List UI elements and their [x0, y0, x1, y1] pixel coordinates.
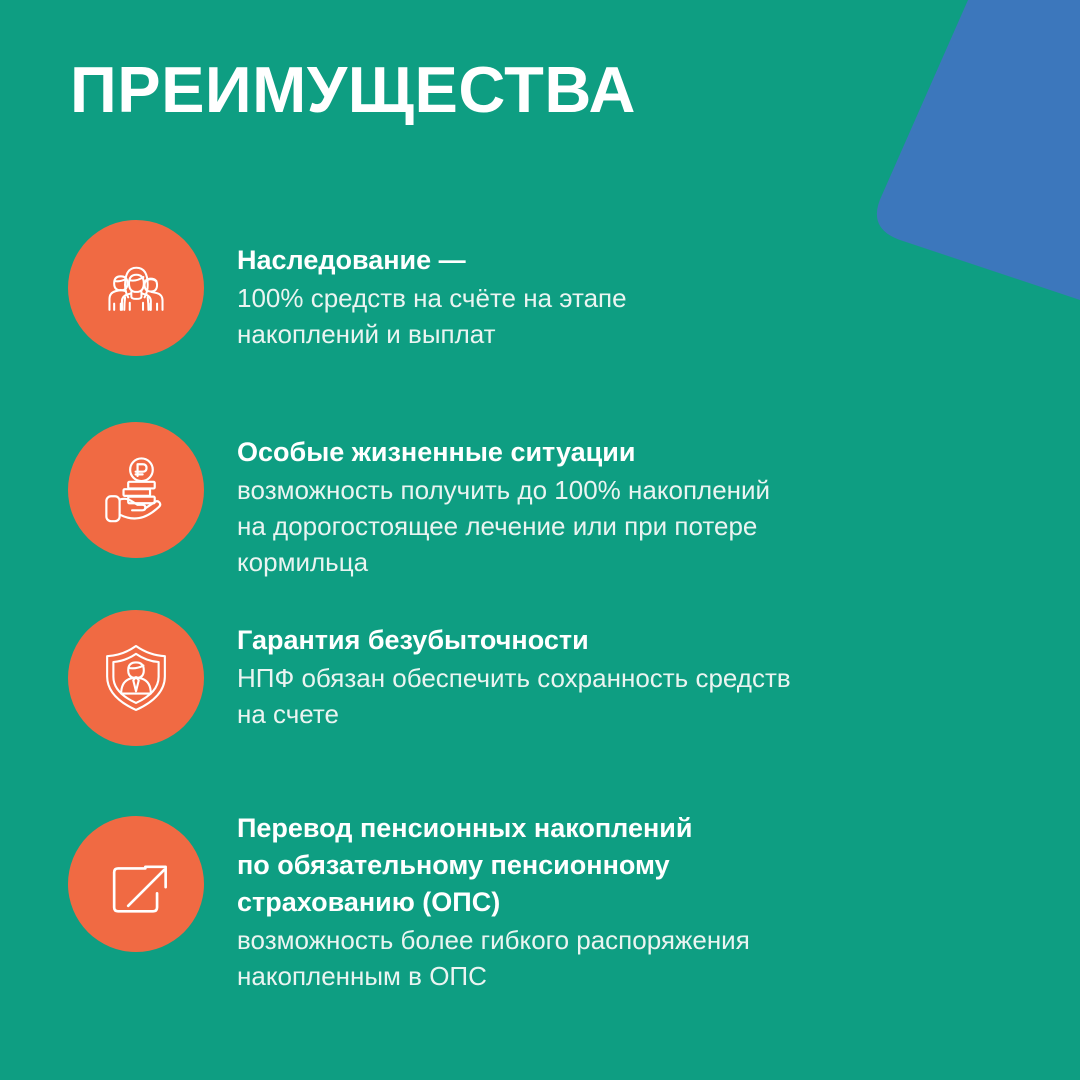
benefit-heading: Наследование —	[237, 242, 937, 279]
benefit-body: возможность более гибкого распоряжения н…	[237, 922, 937, 994]
benefit-body: 100% средств на счёте на этапе накоплени…	[237, 280, 937, 352]
benefit-text-block: Наследование — 100% средств на счёте на …	[237, 242, 937, 352]
benefit-heading: Гарантия безубыточности	[237, 622, 937, 659]
benefit-text-block: Перевод пенсионных накоплений по обязате…	[237, 810, 937, 994]
benefit-body: возможность получить до 100% накоплений …	[237, 472, 937, 580]
hand-with-ruble-coins-icon	[97, 451, 175, 529]
benefit-text-block: Гарантия безубыточности НПФ обязан обесп…	[237, 622, 937, 732]
benefit-text-block: Особые жизненные ситуации возможность по…	[237, 434, 937, 580]
family-group-icon	[97, 249, 175, 327]
benefit-icon-badge	[68, 220, 204, 356]
benefit-icon-badge	[68, 422, 204, 558]
transfer-out-arrow-icon	[97, 845, 175, 923]
benefit-body: НПФ обязан обеспечить сохранность средст…	[237, 660, 937, 732]
shield-with-person-icon	[97, 639, 175, 717]
benefit-icon-badge	[68, 816, 204, 952]
benefit-icon-badge	[68, 610, 204, 746]
page-title: ПРЕИМУЩЕСТВА	[70, 56, 636, 124]
benefit-heading: Перевод пенсионных накоплений по обязате…	[237, 810, 937, 921]
benefit-heading: Особые жизненные ситуации	[237, 434, 937, 471]
benefits-slide: ПРЕИМУЩЕСТВА	[0, 0, 1080, 1080]
